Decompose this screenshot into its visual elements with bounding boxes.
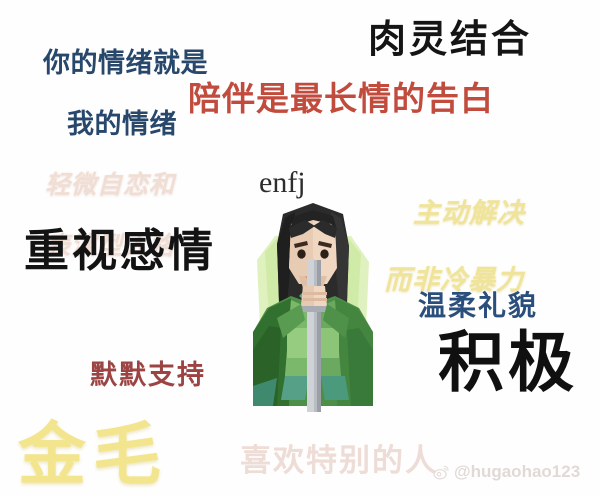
watermark-handle: @hugaohao123	[454, 462, 580, 482]
phrase-narcissism-line1: 轻微自恋和	[45, 172, 175, 199]
phrase-company: 陪伴是最长情的告白	[188, 84, 494, 118]
low-poly-swordsman-illustration	[247, 200, 379, 412]
type-label-enfj: enfj	[259, 168, 306, 199]
meme-image-canvas: 你的情绪就是 我的情绪 肉灵结合 陪伴是最长情的告白 轻微自恋和 表演型人格 重…	[0, 0, 600, 497]
phrase-golden-retriever: 金毛	[18, 421, 168, 490]
phrase-emotion-line2: 我的情绪	[14, 109, 208, 139]
weibo-icon	[433, 464, 450, 481]
phrase-active-solve-line1: 主动解决	[413, 198, 525, 228]
phrase-fusion: 肉灵结合	[368, 21, 532, 60]
phrase-positive: 积极	[438, 330, 578, 397]
phrase-emotion-line1: 你的情绪就是	[43, 48, 208, 78]
phrase-feelings: 重视感情	[24, 229, 216, 275]
phrase-gentle-polite: 温柔礼貌	[418, 293, 538, 322]
watermark: @hugaohao123	[433, 462, 580, 482]
phrase-likes-special: 喜欢特别的人	[240, 445, 438, 477]
phrase-silent-support: 默默支持	[90, 362, 206, 390]
